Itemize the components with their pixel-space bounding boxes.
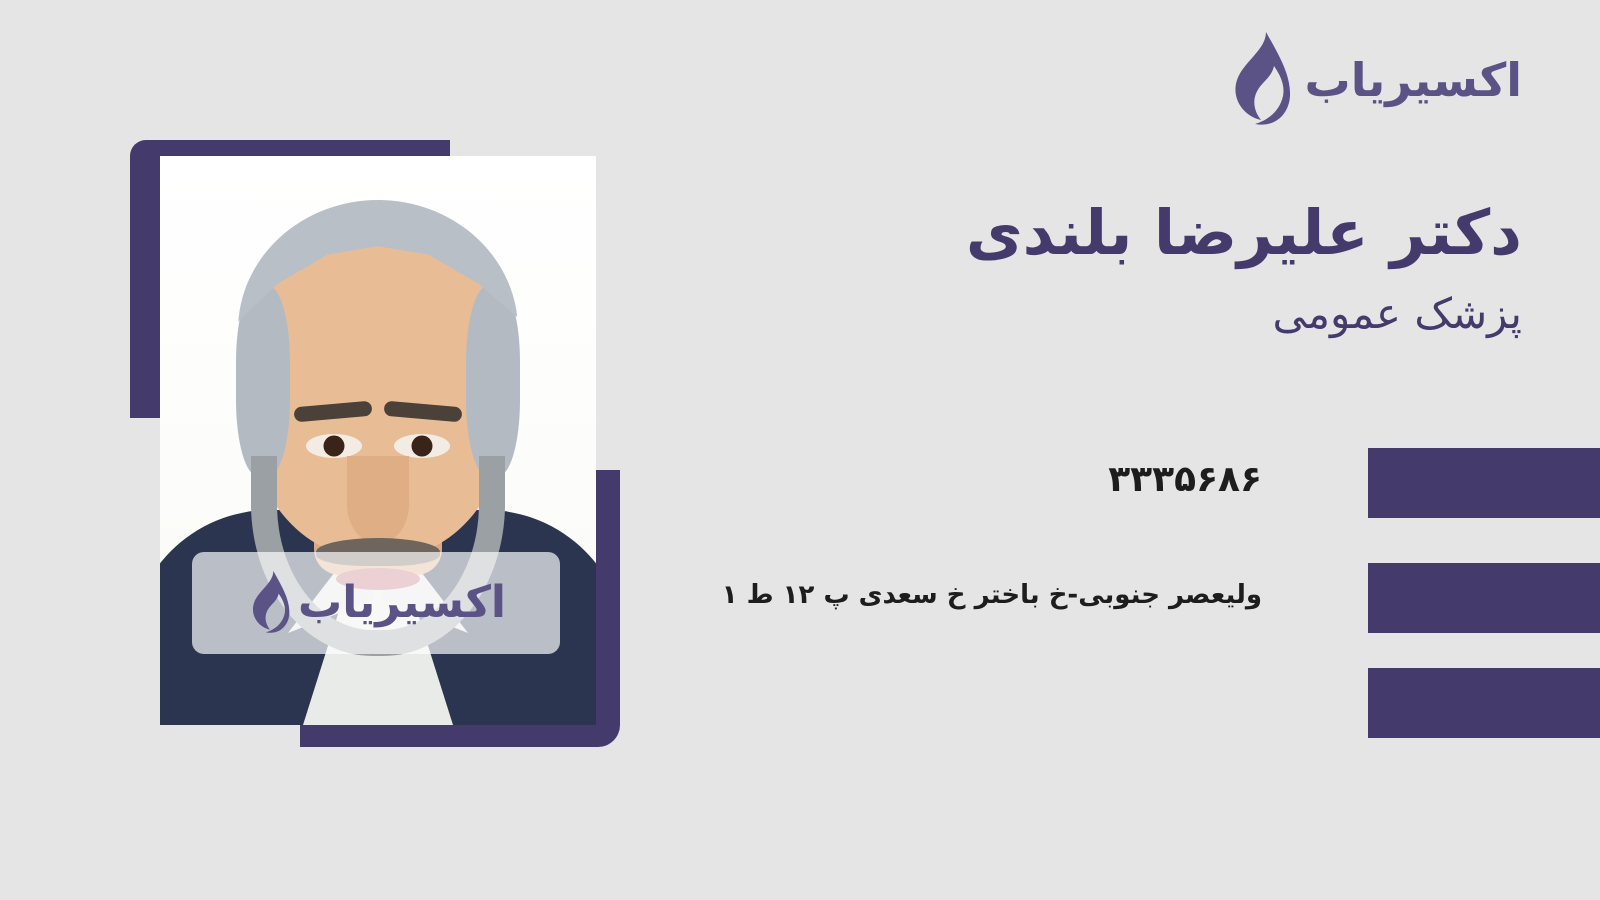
- photo-block: اکسیریاب: [130, 140, 620, 747]
- doctor-info: دکتر علیرضا بلندی پزشک عمومی: [822, 198, 1522, 340]
- flame-drop-icon: [246, 570, 290, 636]
- watermark-text: اکسیریاب: [298, 581, 506, 625]
- flame-drop-icon: [1225, 32, 1291, 128]
- address-text: ولیعصر جنوبی-خ باختر خ سعدی پ ۱۲ ط ۱: [722, 580, 1262, 610]
- doctor-name: دکتر علیرضا بلندی: [822, 198, 1522, 267]
- portrait-photo: اکسیریاب: [160, 156, 596, 725]
- brand-logo: اکسیریاب: [1225, 32, 1523, 128]
- phone-row: ۳۳۳۵۶۸۶: [822, 440, 1522, 518]
- business-card: اکسیریاب: [0, 0, 1600, 900]
- phone-number: ۳۳۳۵۶۸۶: [1108, 459, 1262, 500]
- address-row: ولیعصر جنوبی-خ باختر خ سعدی پ ۱۲ ط ۱: [762, 556, 1522, 634]
- brand-wordmark: اکسیریاب: [1305, 57, 1523, 103]
- decor-bar-3: [1368, 668, 1600, 738]
- doctor-specialty: پزشک عمومی: [822, 289, 1522, 339]
- photo-watermark: اکسیریاب: [192, 552, 560, 654]
